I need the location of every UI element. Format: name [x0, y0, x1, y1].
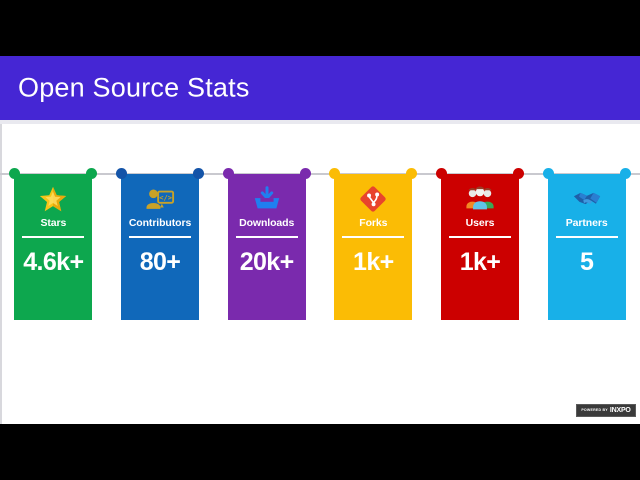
users-group-icon — [465, 183, 495, 215]
banner-dot-left — [223, 168, 234, 179]
stat-label: Forks — [359, 218, 387, 229]
banner-dot-right — [86, 168, 97, 179]
banner-dot-left — [543, 168, 554, 179]
banner-dot-right — [620, 168, 631, 179]
stat-banner-contributors: </>Contributors80+ — [121, 174, 199, 320]
stat-value: 4.6k+ — [23, 250, 83, 275]
watermark-brand: INXPO — [610, 407, 631, 414]
banner-dot-left — [9, 168, 20, 179]
banner-dot-right — [300, 168, 311, 179]
video-player-stage: Open Source Stats Stars4.6k+</>Contribut… — [0, 0, 640, 480]
stat-label: Downloads — [239, 218, 294, 229]
header-divider — [0, 120, 640, 124]
banner-dot-right — [513, 168, 524, 179]
stat-value: 1k+ — [460, 250, 501, 275]
slide-header: Open Source Stats — [0, 56, 640, 120]
stat-label: Contributors — [129, 218, 191, 229]
stats-banner-rail: Stars4.6k+</>Contributors80+Downloads20k… — [0, 168, 640, 336]
stat-divider — [449, 236, 511, 239]
stat-label: Users — [466, 218, 495, 229]
stat-divider — [129, 236, 191, 239]
stat-label: Partners — [566, 218, 608, 229]
banner-dot-right — [406, 168, 417, 179]
handshake-icon — [572, 183, 602, 215]
presentation-slide: Open Source Stats Stars4.6k+</>Contribut… — [0, 56, 640, 424]
page-title: Open Source Stats — [18, 73, 250, 104]
developer-code-icon: </> — [145, 183, 175, 215]
star-icon — [38, 183, 68, 215]
letterbox-bottom — [0, 424, 640, 480]
stat-banner-users: Users1k+ — [441, 174, 519, 320]
stat-divider — [236, 236, 298, 239]
stat-divider — [22, 236, 84, 239]
stat-value: 80+ — [140, 250, 181, 275]
svg-text:</>: </> — [159, 193, 172, 202]
letterbox-top — [0, 0, 640, 56]
download-tray-icon — [252, 183, 282, 215]
stat-banner-downloads: Downloads20k+ — [228, 174, 306, 320]
stat-banner-partners: Partners5 — [548, 174, 626, 320]
banner-dot-left — [116, 168, 127, 179]
banner-dot-left — [436, 168, 447, 179]
stat-divider — [556, 236, 618, 239]
banner-dot-right — [193, 168, 204, 179]
stat-divider — [342, 236, 404, 239]
git-fork-icon — [358, 183, 388, 215]
stat-value: 5 — [580, 250, 593, 275]
stat-value: 1k+ — [353, 250, 394, 275]
inxpo-watermark: POWERED BY INXPO — [576, 404, 636, 417]
stat-banner-stars: Stars4.6k+ — [14, 174, 92, 320]
stat-banner-forks: Forks1k+ — [334, 174, 412, 320]
stat-label: Stars — [40, 218, 66, 229]
banner-dot-left — [329, 168, 340, 179]
stat-value: 20k+ — [240, 250, 294, 275]
watermark-prefix: POWERED BY — [581, 409, 608, 413]
